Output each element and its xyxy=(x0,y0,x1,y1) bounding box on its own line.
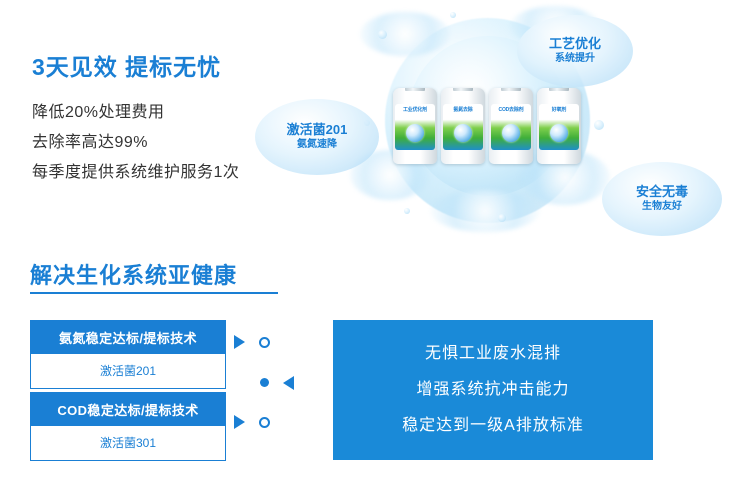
product-bottle-group: 工业优化剂 氨氮去除 COD去除剂 xyxy=(393,88,585,168)
product-bottle: 好氧剂 xyxy=(537,88,581,164)
feature-title: 激活菌201 xyxy=(262,122,372,138)
benefit-line-2: 增强系统抗冲击能力 xyxy=(416,372,569,408)
feature-text: 激活菌201 氨氮速降 xyxy=(262,122,372,152)
water-drop-icon xyxy=(498,214,506,222)
bottle-label-text: 好氧剂 xyxy=(539,107,579,113)
triangle-right-icon xyxy=(234,335,245,349)
bottle-label-text: 工业优化剂 xyxy=(395,107,435,113)
triangle-left-icon xyxy=(283,376,294,390)
bottle-label: 工业优化剂 xyxy=(395,104,435,150)
feature-title: 工艺优化 xyxy=(520,36,630,52)
tech-card-header: 氨氮稳定达标/提标技术 xyxy=(31,321,225,354)
water-drop-icon xyxy=(450,12,456,18)
page-title: 3天见效 提标无忧 xyxy=(32,48,221,82)
bottle-label-text: COD去除剂 xyxy=(491,107,531,113)
feature-callout-safe: 安全无毒 生物友好 xyxy=(610,184,714,214)
poster-root: 3天见效 提标无忧 降低20%处理费用 去除率高达99% 每季度提供系统维护服务… xyxy=(0,0,740,492)
bottle-cap-icon xyxy=(501,88,521,91)
product-bottle: 工业优化剂 xyxy=(393,88,437,164)
bottle-cap-icon xyxy=(549,88,569,91)
feature-callout-activate: 激活菌201 氨氮速降 xyxy=(262,122,372,152)
water-drop-icon xyxy=(404,208,410,214)
water-wisp-icon xyxy=(430,190,540,232)
tech-card-body: 激活菌201 xyxy=(31,354,225,388)
section-divider xyxy=(30,292,278,294)
bottle-cap-icon xyxy=(405,88,425,91)
bottle-orb-icon xyxy=(550,124,568,142)
bottle-orb-icon xyxy=(406,124,424,142)
bottle-label-text: 氨氮去除 xyxy=(443,107,483,113)
ring-icon xyxy=(259,417,270,428)
tech-card-body: 激活菌301 xyxy=(31,426,225,460)
feature-callout-craft: 工艺优化 系统提升 xyxy=(520,36,630,66)
ring-icon xyxy=(259,337,270,348)
water-drop-icon xyxy=(378,30,387,39)
water-wisp-icon xyxy=(360,12,450,56)
product-bottle: 氨氮去除 xyxy=(441,88,485,164)
section-title: 解决生化系统亚健康 xyxy=(30,258,237,290)
tech-card-header: COD稳定达标/提标技术 xyxy=(31,393,225,426)
feature-title: 安全无毒 xyxy=(610,184,714,200)
bottle-cap-icon xyxy=(453,88,473,91)
product-bottle: COD去除剂 xyxy=(489,88,533,164)
feature-text: 工艺优化 系统提升 xyxy=(520,36,630,66)
feature-subtitle: 生物友好 xyxy=(610,201,714,214)
benefits-panel: 无惧工业废水混排 增强系统抗冲击能力 稳定达到一级A排放标准 xyxy=(333,320,653,460)
bottle-label: COD去除剂 xyxy=(491,104,531,150)
bottle-label: 好氧剂 xyxy=(539,104,579,150)
triangle-right-icon xyxy=(234,415,245,429)
tech-card-ammonia[interactable]: 氨氮稳定达标/提标技术 激活菌201 xyxy=(30,320,226,389)
dot-icon xyxy=(260,378,269,387)
water-drop-icon xyxy=(594,120,604,130)
tech-card-cod[interactable]: COD稳定达标/提标技术 激活菌301 xyxy=(30,392,226,461)
feature-subtitle: 氨氮速降 xyxy=(262,139,372,152)
bottle-label: 氨氮去除 xyxy=(443,104,483,150)
feature-subtitle: 系统提升 xyxy=(520,53,630,66)
feature-text: 安全无毒 生物友好 xyxy=(610,184,714,214)
benefit-line-1: 无惧工业废水混排 xyxy=(425,336,561,372)
bottle-orb-icon xyxy=(502,124,520,142)
benefit-line-3: 稳定达到一级A排放标准 xyxy=(402,408,584,444)
bottle-orb-icon xyxy=(454,124,472,142)
